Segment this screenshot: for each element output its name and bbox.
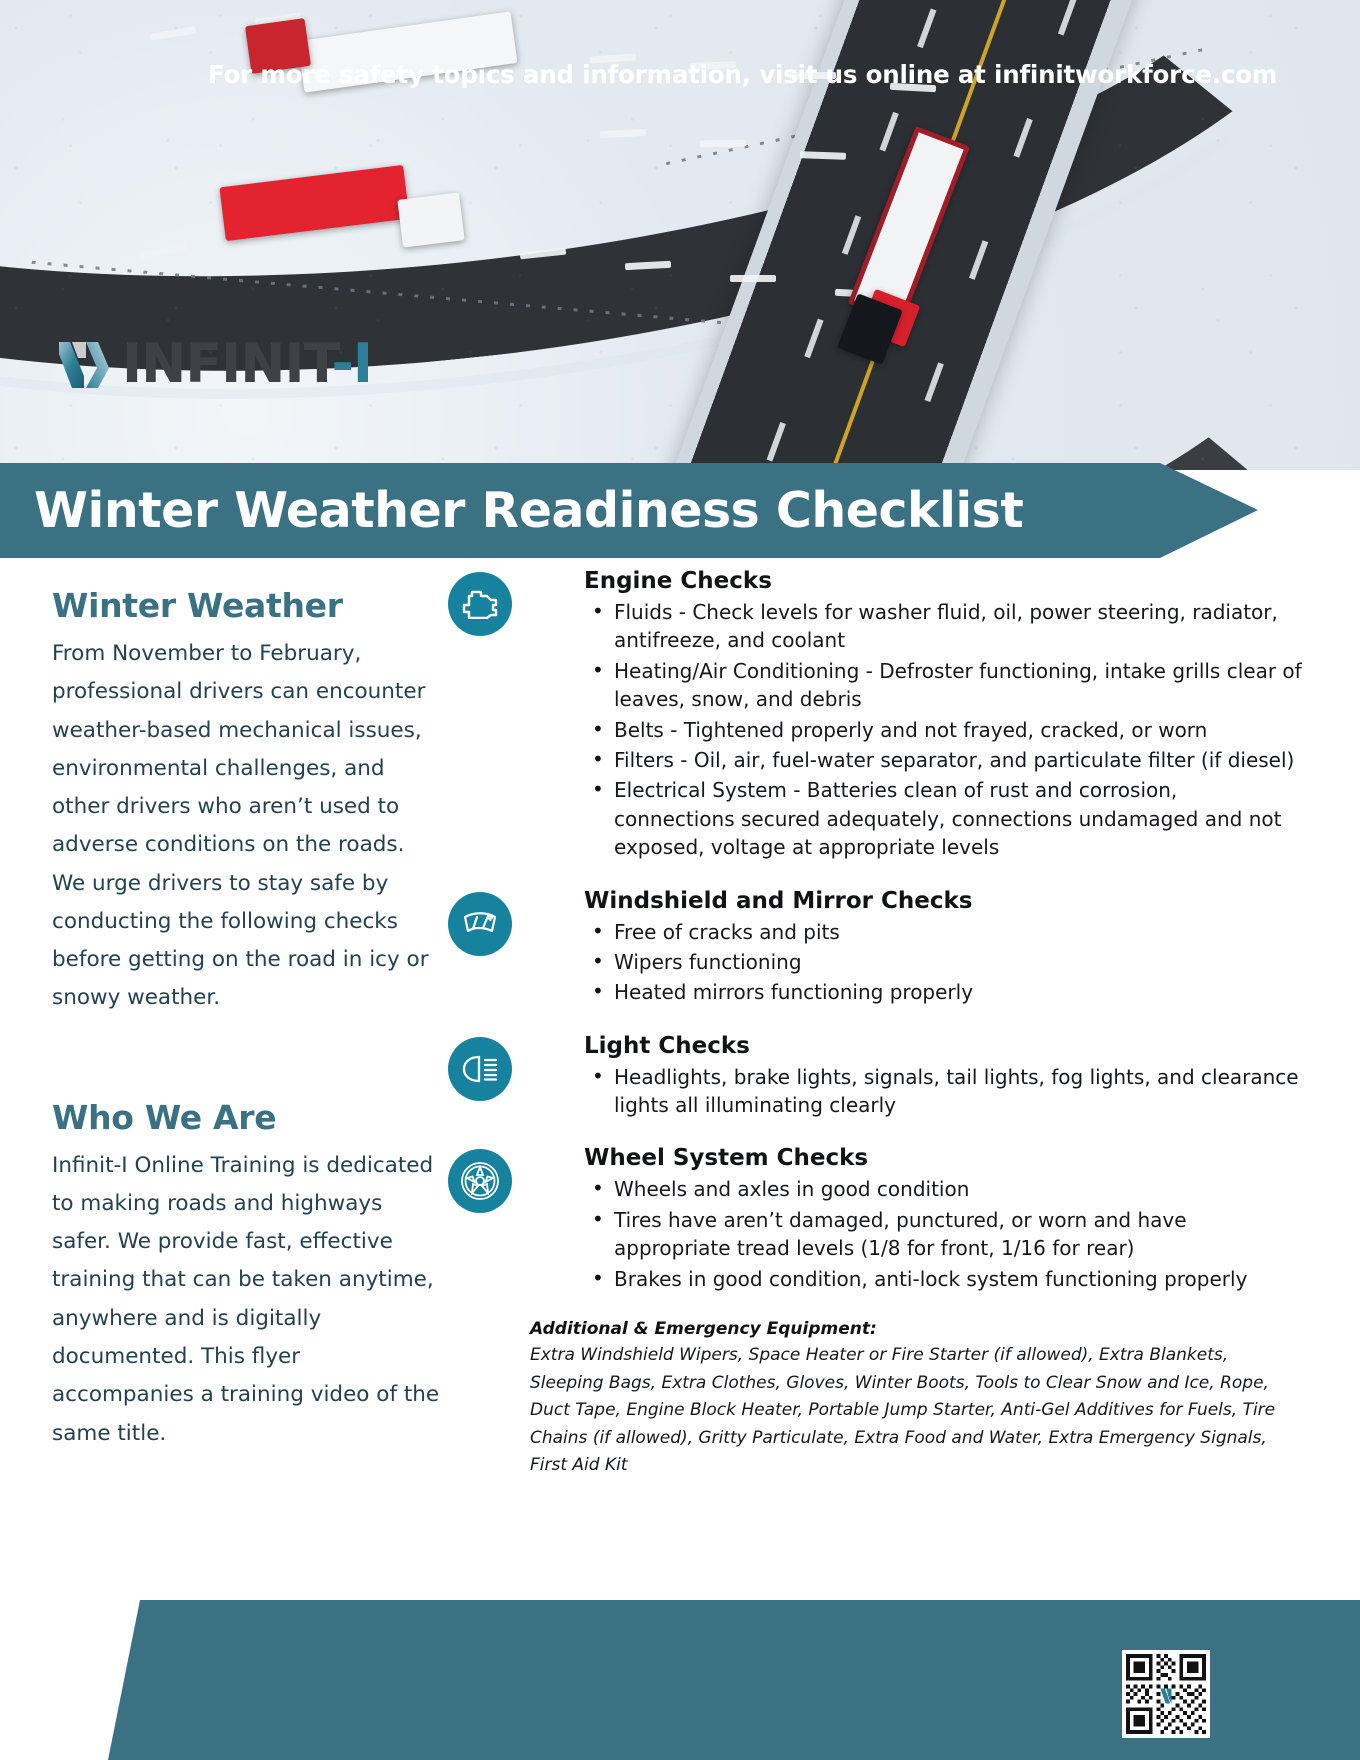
- footer-text: For more safety topics and information, …: [208, 60, 1277, 89]
- section-light-checks: Light Checks Headlights, brake lights, s…: [492, 1033, 1302, 1120]
- logo-word: INFINIT: [122, 332, 331, 395]
- lane-dash: [730, 275, 776, 282]
- section-title: Windshield and Mirror Checks: [584, 888, 1302, 914]
- list-item: Tires have aren’t damaged, punctured, or…: [584, 1206, 1302, 1263]
- infinit-i-arrow-logo-icon: [56, 336, 112, 392]
- bridge-lane-dash: [767, 422, 786, 462]
- truck-cab-white: [397, 192, 464, 247]
- bridge-lane-dash: [1013, 118, 1032, 158]
- logo-suffix: -I: [331, 332, 372, 395]
- wheel-checks-list: Wheels and axles in good condition Tires…: [584, 1175, 1302, 1293]
- section-windshield-mirror-checks: Windshield and Mirror Checks Free of cra…: [492, 888, 1302, 1007]
- list-item: Heated mirrors functioning properly: [584, 978, 1302, 1006]
- bridge-lane-dash: [879, 112, 898, 152]
- bridge-lane-dash: [925, 362, 944, 402]
- list-item: Brakes in good condition, anti-lock syst…: [584, 1265, 1302, 1293]
- winter-weather-body: From November to February, professional …: [52, 635, 442, 1018]
- qr-code[interactable]: [1122, 1650, 1210, 1738]
- who-we-are-body: Infinit-I Online Training is dedicated t…: [52, 1147, 442, 1453]
- engine-checks-list: Fluids - Check levels for washer fluid, …: [584, 598, 1302, 862]
- windshield-wiper-icon: [448, 892, 512, 956]
- headlight-icon: [448, 1037, 512, 1101]
- list-item: Heating/Air Conditioning - Defroster fun…: [584, 657, 1302, 714]
- left-column: Winter Weather From November to February…: [52, 586, 442, 1453]
- check-engine-icon: [448, 572, 512, 636]
- infinit-i-logo: INFINIT-I: [56, 336, 372, 392]
- section-wheel-system-checks: Wheel System Checks Wheels and axles in …: [492, 1145, 1302, 1293]
- list-item: Fluids - Check levels for washer fluid, …: [584, 598, 1302, 655]
- bridge-lane-dash: [917, 8, 936, 48]
- additional-equipment-body: Extra Windshield Wipers, Space Heater or…: [530, 1342, 1302, 1480]
- additional-equipment-title: Additional & Emergency Equipment:: [530, 1319, 1302, 1339]
- list-item: Free of cracks and pits: [584, 918, 1302, 946]
- title-banner: Winter Weather Readiness Checklist: [0, 463, 1258, 558]
- section-title: Light Checks: [584, 1033, 1302, 1059]
- who-we-are-block: Who We Are Infinit-I Online Training is …: [52, 1098, 442, 1453]
- lane-dash: [700, 140, 746, 148]
- logo-wordmark: INFINIT-I: [122, 337, 372, 391]
- right-column: Engine Checks Fluids - Check levels for …: [492, 568, 1302, 1480]
- section-title: Wheel System Checks: [584, 1145, 1302, 1171]
- bridge-lane-dash: [804, 319, 823, 359]
- list-item: Wipers functioning: [584, 948, 1302, 976]
- winter-weather-heading: Winter Weather: [52, 586, 442, 625]
- list-item: Belts - Tightened properly and not fraye…: [584, 716, 1302, 744]
- bridge-lane-dash: [842, 215, 861, 255]
- wheel-icon: [448, 1149, 512, 1213]
- page-title: Winter Weather Readiness Checklist: [0, 482, 1023, 539]
- list-item: Filters - Oil, air, fuel-water separator…: [584, 746, 1302, 774]
- bridge-lane-dash: [969, 240, 988, 280]
- light-checks-list: Headlights, brake lights, signals, tail …: [584, 1063, 1302, 1120]
- additional-equipment-block: Additional & Emergency Equipment: Extra …: [492, 1319, 1302, 1480]
- column-spacer: [52, 1018, 442, 1098]
- windshield-checks-list: Free of cracks and pits Wipers functioni…: [584, 918, 1302, 1007]
- section-engine-checks: Engine Checks Fluids - Check levels for …: [492, 568, 1302, 862]
- list-item: Electrical System - Batteries clean of r…: [584, 776, 1302, 861]
- list-item: Headlights, brake lights, signals, tail …: [584, 1063, 1302, 1120]
- list-item: Wheels and axles in good condition: [584, 1175, 1302, 1203]
- winter-weather-block: Winter Weather From November to February…: [52, 586, 442, 1018]
- who-we-are-heading: Who We Are: [52, 1098, 442, 1137]
- qr-code-image: [1126, 1654, 1206, 1734]
- bridge-lane-dash: [1058, 0, 1077, 36]
- section-title: Engine Checks: [584, 568, 1302, 594]
